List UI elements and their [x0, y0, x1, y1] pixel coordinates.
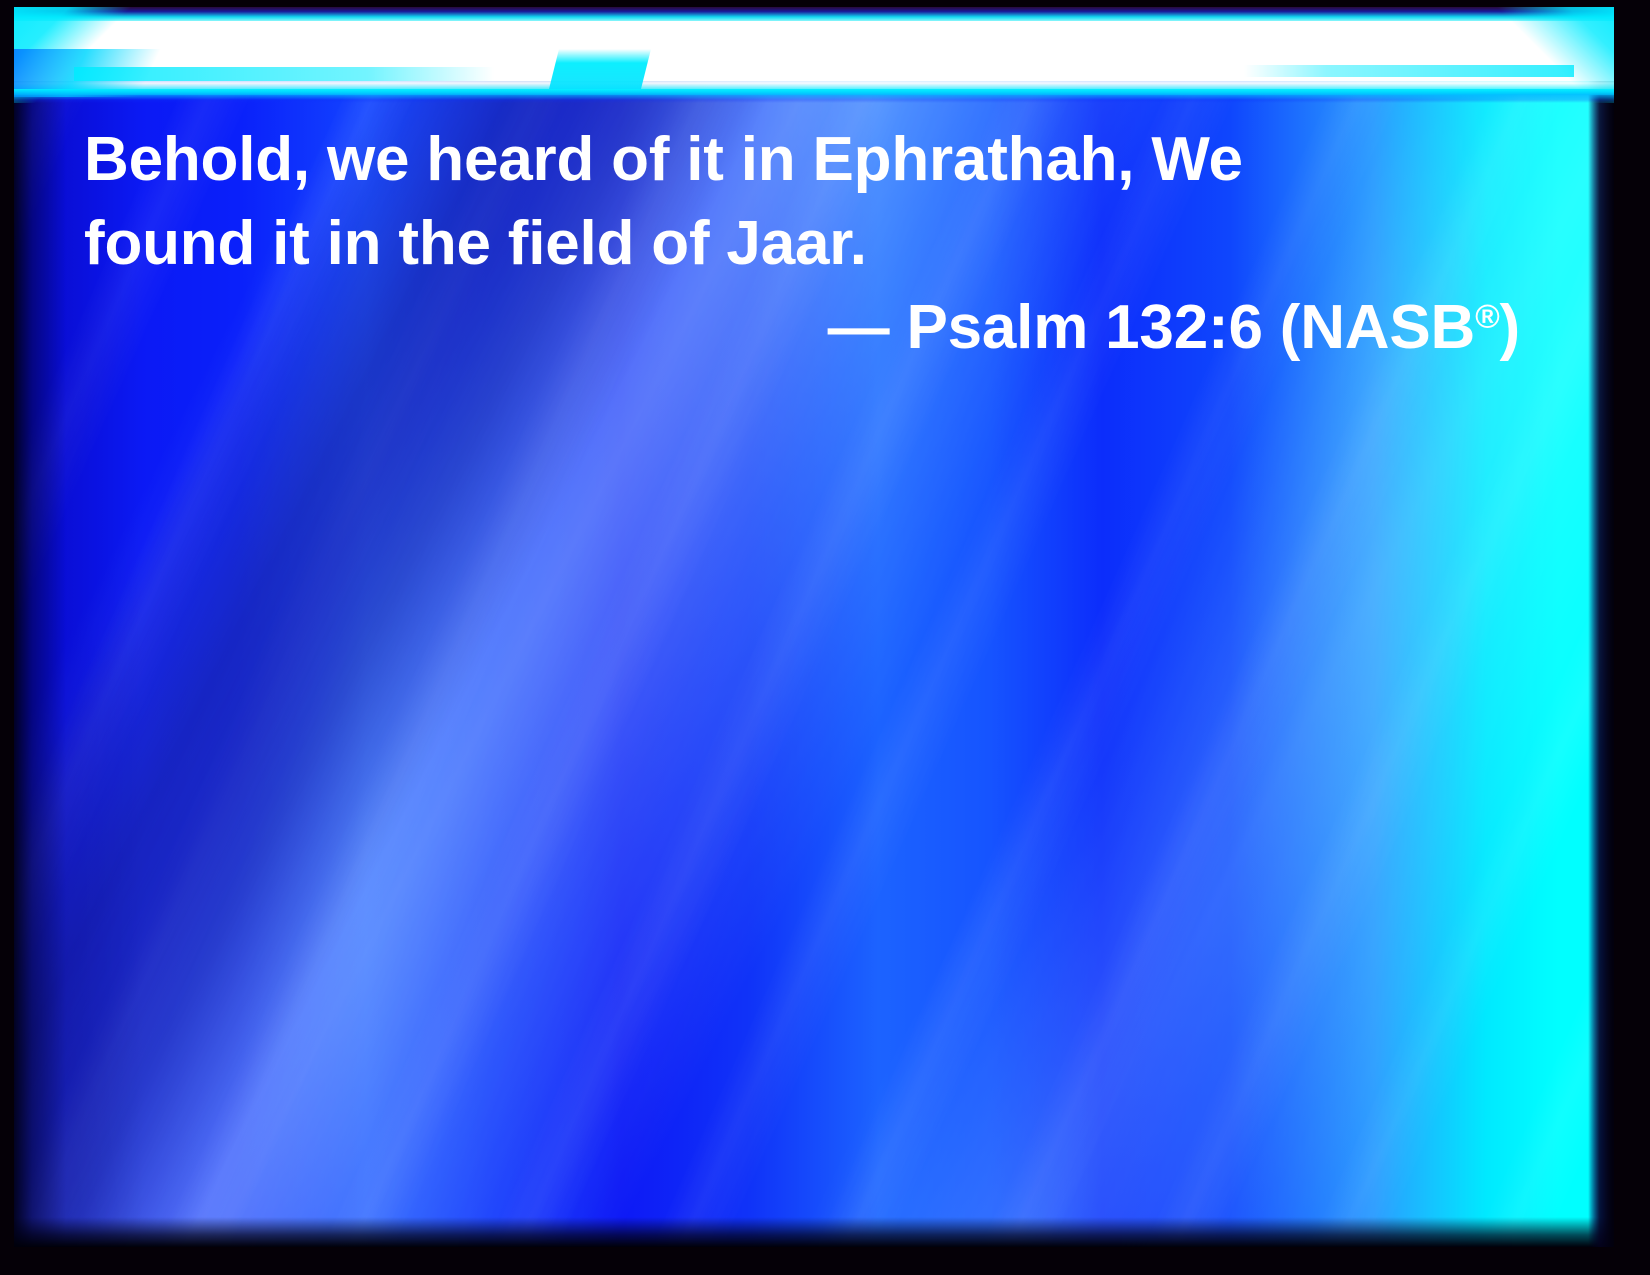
- banner-center-nub: [549, 49, 651, 89]
- background-dark-diagonal-streak: [14, 7, 1614, 1247]
- slide-background-art: [14, 7, 1614, 1247]
- header-banner: [14, 7, 1614, 103]
- banner-bottom-edge: [14, 89, 1614, 103]
- banner-right-wisp: [1244, 65, 1574, 77]
- background-right-vignette: [1588, 7, 1614, 1247]
- banner-left-wisp: [74, 67, 494, 81]
- background-left-vignette: [14, 7, 144, 1247]
- scripture-slide: Behold, we heard of it in Ephrathah, Wef…: [0, 0, 1650, 1275]
- background-bottom-vignette: [14, 1217, 1614, 1247]
